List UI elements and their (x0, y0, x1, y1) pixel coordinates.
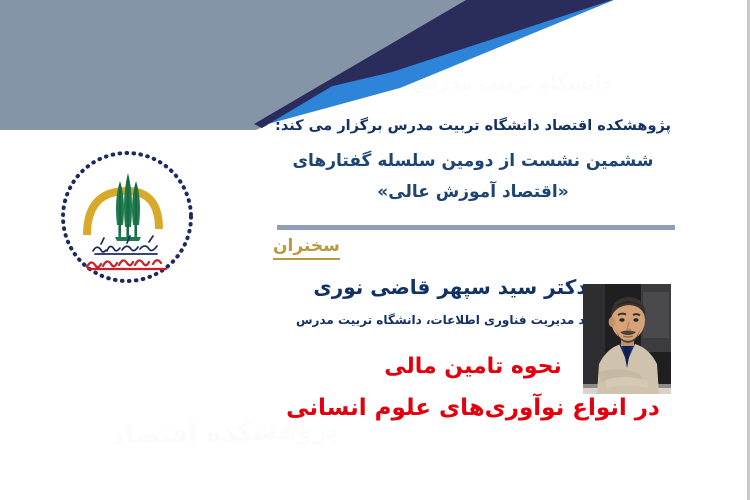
shape-blue-mid (0, 0, 598, 98)
section-divider (277, 225, 675, 230)
series-line-1: ششمین نشست از دومین سلسله گفتارهای (271, 149, 675, 174)
shape-gray-blue-lower (0, 44, 268, 130)
speaker-label: سخنران (273, 236, 340, 260)
university-seal-logo: نشان دانشگاه تربیت مدرس - پژوهشکده اقتصا… (57, 147, 197, 287)
shape-gray-blue-fill (0, 0, 472, 127)
event-poster: دانشگاه تربیت مدرس پژوهشکده اقتصاد نشان … (0, 0, 750, 500)
speaker-label-row: سخنران (271, 236, 675, 260)
shape-navy-edge (254, 0, 476, 128)
host-line: پژوهشکده اقتصاد دانشگاه تربیت مدرس برگزا… (271, 118, 675, 135)
shape-bright-blue (0, 0, 614, 127)
watermark-top: دانشگاه تربیت مدرس (412, 72, 611, 94)
speaker-photo: عکس سخنران (583, 284, 671, 394)
series-line-2: «اقتصاد آموزش عالی» (271, 180, 675, 205)
seal-institute-script (87, 260, 166, 269)
shape-gray-blue (0, 0, 470, 128)
shape-navy-stroke (0, 0, 612, 126)
talk-title-line-2: در انواع نوآوری‌های علوم انسانی (271, 392, 675, 425)
